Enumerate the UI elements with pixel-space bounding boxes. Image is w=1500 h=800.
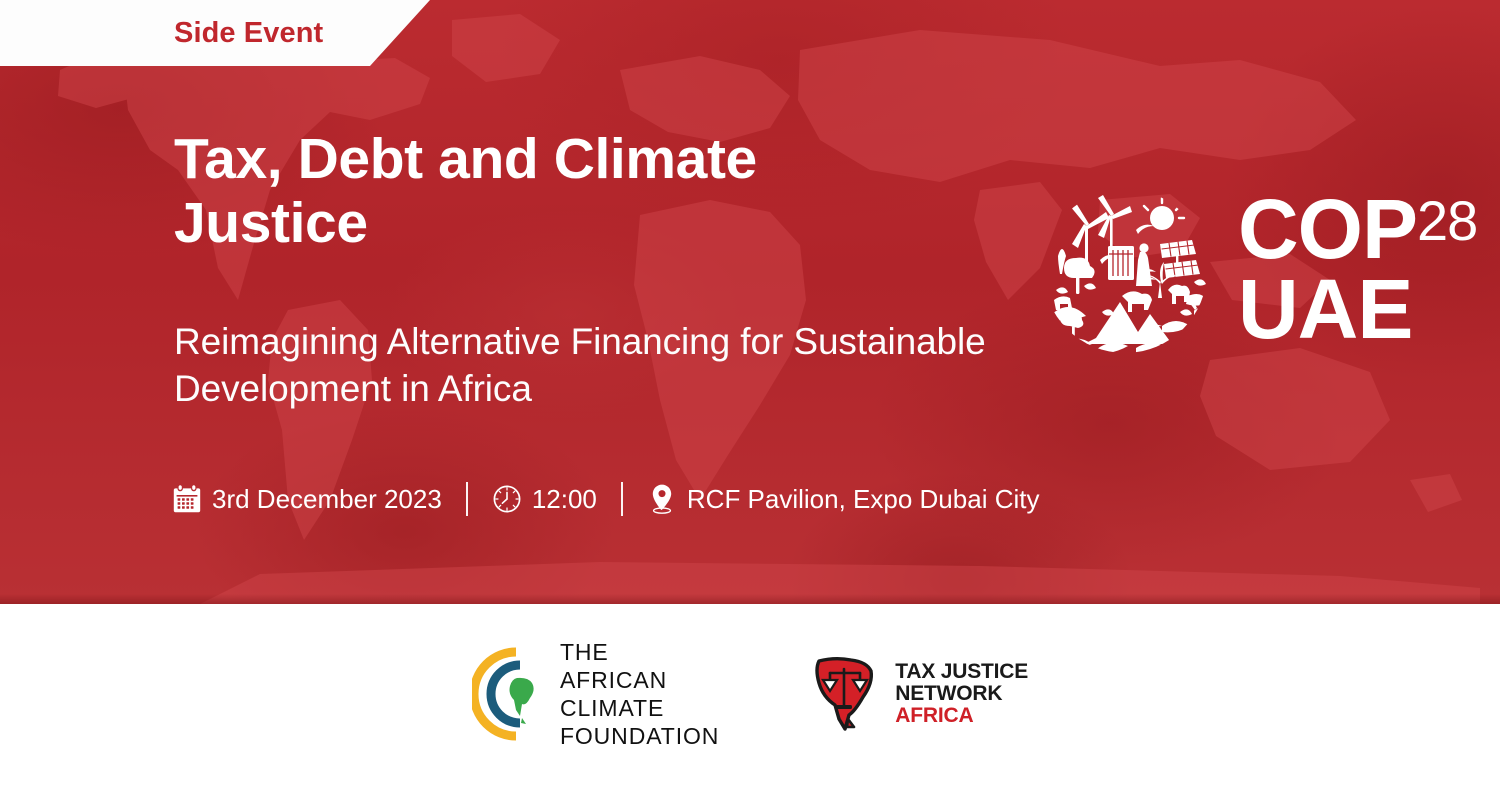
cop-country: UAE — [1238, 272, 1477, 348]
event-venue-text: RCF Pavilion, Expo Dubai City — [687, 484, 1040, 515]
clock-icon — [492, 484, 522, 514]
tjna-line-3: AFRICA — [895, 705, 1028, 727]
calendar-icon — [172, 484, 202, 514]
event-time-text: 12:00 — [532, 484, 597, 515]
acf-line-1: THE — [560, 638, 719, 666]
cop-edition: 28 — [1417, 196, 1477, 246]
partner-name-african-climate-foundation: THE AFRICAN CLIMATE FOUNDATION — [560, 638, 719, 750]
cop28-logo: COP 28 UAE — [1040, 186, 1477, 356]
cop28-nature-collage-emblem — [1040, 186, 1210, 356]
meta-divider-2 — [621, 482, 623, 516]
page-title: Tax, Debt and Climate Justice — [174, 128, 874, 256]
acf-line-2: AFRICAN — [560, 666, 719, 694]
event-time: 12:00 — [492, 484, 597, 515]
hero-banner: Tax, Debt and Climate Justice Reimaginin… — [0, 0, 1500, 604]
partner-logos-bar: THE AFRICAN CLIMATE FOUNDATION TAX JUSTI… — [0, 604, 1500, 800]
event-details-row: 3rd December 2023 — [172, 482, 1039, 516]
side-event-badge: Side Event — [0, 0, 430, 66]
event-date-text: 3rd December 2023 — [212, 484, 442, 515]
event-venue: RCF Pavilion, Expo Dubai City — [647, 483, 1040, 515]
acf-line-3: CLIMATE — [560, 694, 719, 722]
acf-line-4: FOUNDATION — [560, 722, 719, 750]
meta-divider-1 — [466, 482, 468, 516]
cop-label: COP — [1238, 194, 1417, 265]
tjna-line-2: NETWORK — [895, 683, 1028, 705]
page-subtitle: Reimagining Alternative Financing for Su… — [174, 318, 994, 413]
africa-scales-of-justice-icon — [805, 653, 883, 735]
partner-logo-tax-justice-network-africa: TAX JUSTICE NETWORK AFRICA — [805, 653, 1028, 735]
event-date: 3rd December 2023 — [172, 484, 442, 515]
partner-name-tax-justice-network-africa: TAX JUSTICE NETWORK AFRICA — [895, 661, 1028, 728]
side-event-badge-label: Side Event — [174, 17, 323, 50]
location-pin-icon — [647, 483, 677, 515]
partner-logo-african-climate-foundation: THE AFRICAN CLIMATE FOUNDATION — [472, 638, 719, 750]
africa-globe-arcs-icon — [472, 646, 546, 742]
tjna-line-1: TAX JUSTICE — [895, 661, 1028, 683]
